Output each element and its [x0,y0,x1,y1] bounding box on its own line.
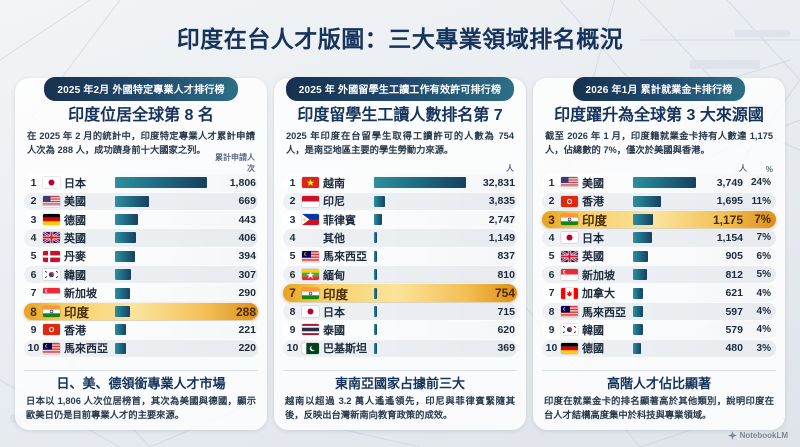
row-value: 307 [210,269,258,281]
row-rank: 3 [24,214,43,226]
flag-gb-icon [561,251,578,262]
flag-de-icon [561,343,578,354]
row-value: 406 [210,232,258,244]
row-rank: 7 [542,287,561,299]
flag-hk-icon [561,196,578,207]
row-bar-track [115,324,207,335]
panel-student-workers: 2025 年 外國留學生工讀工作有效許可排行榜 印度留學生工讀人數排名第 7 2… [274,78,526,430]
table-row[interactable]: 6新加坡8125% [542,266,776,283]
row-country-name: 日本 [323,304,371,320]
row-bar [115,214,138,225]
table-row[interactable]: 7印度754 [283,284,517,301]
table-row[interactable]: 10德國4803% [542,340,776,357]
footer-title: 東南亞國家占據前三大 [283,376,517,392]
row-rank: 4 [283,232,302,244]
row-bar-track [115,251,207,262]
row-bar [115,343,126,354]
row-bar-track [374,269,466,280]
row-rank: 10 [283,342,302,354]
row-bar-track [374,214,466,225]
row-value: 1,695 [699,195,745,207]
row-bar-track [115,196,207,207]
row-bar-track [633,343,696,354]
row-value: 579 [699,324,745,336]
row-country-name: 印尼 [323,193,371,209]
watermark-label: NotebookLM [740,431,788,440]
row-value: 394 [210,250,258,262]
flag-kr-icon [43,269,60,280]
row-rank: 10 [542,342,561,354]
row-bar [374,177,466,188]
flag-gb-icon [43,232,60,243]
row-bar [374,288,377,299]
panel-badge-wrap: 2025 年 外國留學生工讀工作有效許可排行榜 [274,77,526,101]
table-row[interactable]: 5馬來西亞837 [283,248,517,265]
row-country-name: 美國 [582,175,630,191]
row-rank: 1 [542,177,561,189]
row-rank: 6 [542,269,561,281]
row-bar [633,269,647,280]
flag-sg-icon [43,288,60,299]
table-row[interactable]: 3印度1,1757% [542,211,776,228]
row-bar [374,324,377,335]
row-bar-track [374,324,466,335]
column-headers: 累計申請人次 [24,161,258,174]
panel-employment-gold-card: 2026 年1月 累計就業金卡排行榜 印度躍升為全球第 3 大來源國 截至 20… [533,78,785,430]
row-bar [374,214,382,225]
row-bar-track [115,269,207,280]
row-value: 837 [469,250,517,262]
flag-th-icon [302,324,319,335]
panel-badge-wrap: 2025 年2月 外國特定專業人才排行榜 [15,77,267,101]
row-value: 597 [699,306,745,318]
row-bar-track [374,177,466,188]
row-percent: 4% [745,324,776,335]
row-bar-track [374,343,466,354]
row-bar [374,232,377,243]
row-country-name: 菲律賓 [323,212,371,228]
row-percent: 7% [745,214,776,226]
row-bar-track [633,232,696,243]
row-country-name: 越南 [323,175,371,191]
row-country-name: 日本 [64,175,112,191]
row-rank: 3 [542,213,561,227]
flag-vn-icon [302,177,319,188]
row-percent: 4% [745,288,776,299]
footer-title: 日、美、德領銜專業人才市場 [24,376,258,392]
row-value: 3,749 [699,177,745,189]
row-value: 220 [210,342,258,354]
row-value: 812 [699,269,745,281]
row-bar [374,251,377,262]
row-bar-track [633,251,696,262]
row-bar [633,177,696,188]
row-rank: 9 [24,324,43,336]
row-bar [633,251,648,262]
row-bar-track [115,232,207,243]
row-value: 621 [699,287,745,299]
table-row[interactable]: 4英國406 [24,229,258,246]
table-row[interactable]: 8日本715 [283,303,517,320]
row-bar-track [115,288,207,299]
row-value: 1,154 [699,232,745,244]
row-bar [633,288,643,299]
row-value: 905 [699,250,745,262]
row-value: 221 [210,324,258,336]
flag-my-icon [43,343,60,354]
panel-footer: 日、美、德領銜專業人才市場 日本以 1,806 人次位居榜首，其次為美國與德國，… [24,370,258,422]
table-row[interactable]: 9韓國5794% [542,321,776,338]
panels-container: 2025 年2月 外國特定專業人才排行榜 印度位居全球第 8 名 在 2025 … [0,78,800,430]
row-bar [115,306,130,317]
flag-hk-icon [43,324,60,335]
row-rank: 4 [24,232,43,244]
row-bar [633,343,641,354]
row-bar [115,196,149,207]
row-bar-track [374,288,466,299]
flag-in-icon [561,214,578,225]
row-rank: 4 [542,232,561,244]
row-country-name: 英國 [64,230,112,246]
row-bar [374,306,377,317]
row-value: 620 [469,324,517,336]
row-value: 810 [469,269,517,281]
row-rank: 9 [283,324,302,336]
table-row[interactable]: 1越南32,831 [283,174,517,191]
row-country-name: 新加坡 [64,285,112,301]
row-bar [633,214,653,225]
row-country-name: 泰國 [323,322,371,338]
row-bar [115,251,135,262]
panel-lede: 截至 2026 年 1 月，印度籍就業金卡持有人數達 1,175 人，佔總數的 … [542,130,776,157]
flag-jp-icon [561,232,578,243]
row-bar [633,196,661,207]
row-rank: 5 [24,250,43,262]
row-rank: 9 [542,324,561,336]
table-row[interactable]: 9泰國620 [283,321,517,338]
row-rank: 7 [24,287,43,299]
row-value: 369 [469,342,517,354]
table-row[interactable]: 9香港221 [24,321,258,338]
row-bar-track [633,288,696,299]
row-value: 443 [210,214,258,226]
row-bar [633,232,652,243]
row-value: 3,835 [469,195,517,207]
row-value: 290 [210,287,258,299]
row-value: 480 [699,342,745,354]
flag-my-icon [302,251,319,262]
column-header-value: 人 [468,163,514,174]
footer-title: 高階人才佔比顯著 [542,376,776,392]
row-country-name: 英國 [582,248,630,264]
row-rank: 5 [542,250,561,262]
row-rank: 8 [24,305,43,319]
row-bar [374,343,377,354]
row-rank: 10 [24,342,43,354]
panel-headline: 印度位居全球第 8 名 [24,106,258,125]
table-row[interactable]: 2美國669 [24,193,258,210]
row-value: 754 [469,286,517,300]
row-rank: 1 [24,177,43,189]
row-bar [374,196,385,207]
panel-badge: 2026 年1月 累計就業金卡排行榜 [573,77,746,101]
row-country-name: 馬來西亞 [323,248,371,264]
table-row[interactable]: 10巴基斯坦369 [283,340,517,357]
row-bar-track [633,269,696,280]
panel-badge-wrap: 2026 年1月 累計就業金卡排行榜 [533,77,785,101]
row-rank: 6 [283,269,302,281]
flag-in-icon [302,288,319,299]
row-bar-track [374,306,466,317]
row-percent: 24% [745,177,776,188]
row-bar [633,324,643,335]
footer-text: 印度在就業金卡的排名顯著高於其他類別，說明印度在台人才結構高度集中於科技與專業領… [542,395,776,422]
row-rank: 1 [283,177,302,189]
ranking-table: 1越南32,8312印尼3,8353菲律賓2,7474其他1,1495馬來西亞8… [283,174,517,365]
row-country-name: 韓國 [582,322,630,338]
row-bar [374,269,377,280]
flag-jp-icon [43,177,60,188]
row-rank: 2 [24,195,43,207]
table-row[interactable]: 3菲律賓2,747 [283,211,517,228]
row-bar [115,232,136,243]
flag-us-icon [561,177,578,188]
table-row[interactable]: 8馬來西亞5974% [542,303,776,320]
table-row[interactable]: 1日本1,806 [24,174,258,191]
row-value: 669 [210,195,258,207]
row-percent: 5% [745,269,776,280]
row-rank: 2 [542,195,561,207]
row-country-name: 加拿大 [582,285,630,301]
panel-badge: 2025 年 外國留學生工讀工作有效許可排行榜 [286,77,514,101]
table-row[interactable]: 6緬甸810 [283,266,517,283]
flag-id-icon [302,196,319,207]
row-country-name: 德國 [582,340,630,356]
flag-dk-icon [43,251,60,262]
flag-de-icon [43,214,60,225]
row-country-name: 其他 [323,230,371,246]
row-bar-track [374,251,466,262]
table-row[interactable]: 7加拿大6214% [542,284,776,301]
page-title: 印度在台人才版圖：三大專業領域排名概況 [0,20,800,54]
row-country-name: 印度 [323,284,371,303]
row-bar-track [633,177,696,188]
row-percent: 4% [745,306,776,317]
row-country-name: 香港 [64,322,112,338]
row-bar-track [633,306,696,317]
row-country-name: 德國 [64,212,112,228]
flag-sg-icon [561,269,578,280]
notebooklm-icon [728,431,737,440]
row-percent: 3% [745,343,776,354]
row-bar-track [115,343,207,354]
row-country-name: 印度 [582,210,630,229]
row-bar-track [115,214,207,225]
row-percent: 6% [745,251,776,262]
row-value: 1,175 [699,213,745,227]
row-percent: 11% [745,196,776,207]
row-country-name: 新加坡 [582,267,630,283]
column-headers: 人 [283,161,517,174]
table-row[interactable]: 3德國443 [24,211,258,228]
row-country-name: 美國 [64,193,112,209]
table-row[interactable]: 2香港1,69511% [542,193,776,210]
table-row[interactable]: 10馬來西亞220 [24,340,258,357]
flag-kr-icon [561,324,578,335]
row-bar [115,177,207,188]
panel-specific-professionals: 2025 年2月 外國特定專業人才排行榜 印度位居全球第 8 名 在 2025 … [15,78,267,430]
table-row[interactable]: 5英國9056% [542,248,776,265]
row-percent: 7% [745,232,776,243]
row-bar-track [374,196,466,207]
panel-footer: 東南亞國家占據前三大 越南以超過 3.2 萬人遙遙領先，印尼與菲律賓緊隨其後，反… [283,370,517,422]
flag-pk-icon [302,343,319,354]
row-rank: 3 [283,214,302,226]
row-bar-track [633,324,696,335]
flag-jp-icon [302,306,319,317]
flag-ca-icon [561,288,578,299]
row-bar-track [115,306,207,317]
row-rank: 2 [283,195,302,207]
row-value: 32,831 [469,177,517,189]
footer-text: 日本以 1,806 人次位居榜首，其次為美國與德國，顯示歐美日仍是目前專業人才的… [24,395,258,422]
row-value: 1,149 [469,232,517,244]
flag-my-icon [561,306,578,317]
panel-headline: 印度躍升為全球第 3 大來源國 [542,106,776,125]
row-bar-track [374,232,466,243]
ranking-table: 1美國3,74924%2香港1,69511%3印度1,1757%4日本1,154… [542,174,776,365]
row-bar [633,306,643,317]
row-bar [115,269,131,280]
row-bar [115,288,130,299]
row-rank: 6 [24,269,43,281]
row-country-name: 丹麥 [64,248,112,264]
no-flag-placeholder [302,232,319,243]
row-bar [115,324,126,335]
flag-in-icon [43,306,60,317]
row-country-name: 馬來西亞 [582,304,630,320]
column-header-value: 累計申請人次 [209,152,255,174]
flag-ph-icon [302,214,319,225]
row-value: 715 [469,306,517,318]
row-country-name: 印度 [64,302,112,321]
column-headers: 人 % [542,161,776,174]
panel-headline: 印度留學生工讀人數排名第 7 [283,106,517,125]
row-rank: 8 [283,306,302,318]
row-bar-track [115,177,207,188]
panel-lede: 2025 年印度在台留學生取得工讀許可的人數為 754 人，是南亞地區主要的學生… [283,130,517,157]
row-country-name: 香港 [582,193,630,209]
row-value: 288 [210,305,258,319]
row-country-name: 日本 [582,230,630,246]
row-country-name: 緬甸 [323,267,371,283]
row-rank: 8 [542,306,561,318]
row-bar-track [633,196,696,207]
flag-mm-icon [302,269,319,280]
panel-footer: 高階人才佔比顯著 印度在就業金卡的排名顯著高於其他類別，說明印度在台人才結構高度… [542,370,776,422]
row-value: 1,806 [210,177,258,189]
table-row[interactable]: 1美國3,74924% [542,174,776,191]
flag-us-icon [43,196,60,207]
row-rank: 7 [283,286,302,300]
column-header-value: 人 [703,163,747,174]
row-value: 2,747 [469,214,517,226]
table-row[interactable]: 4其他1,149 [283,229,517,246]
table-row[interactable]: 7新加坡290 [24,284,258,301]
table-row[interactable]: 6韓國307 [24,266,258,283]
table-row[interactable]: 2印尼3,835 [283,193,517,210]
row-rank: 5 [283,250,302,262]
row-country-name: 馬來西亞 [64,340,112,356]
row-bar-track [633,214,696,225]
panel-badge: 2025 年2月 外國特定專業人才排行榜 [44,77,237,101]
table-row[interactable]: 5丹麥394 [24,248,258,265]
ranking-table: 1日本1,8062美國6693德國4434英國4065丹麥3946韓國3077新… [24,174,258,365]
footer-text: 越南以超過 3.2 萬人遙遙領先，印尼與菲律賓緊隨其後，反映出台灣新南向教育政策… [283,395,517,422]
column-header-percent: % [747,165,773,174]
table-row[interactable]: 4日本1,1547% [542,229,776,246]
row-country-name: 韓國 [64,267,112,283]
row-country-name: 巴基斯坦 [323,340,371,356]
watermark: NotebookLM [728,431,788,440]
table-row[interactable]: 8印度288 [24,303,258,320]
